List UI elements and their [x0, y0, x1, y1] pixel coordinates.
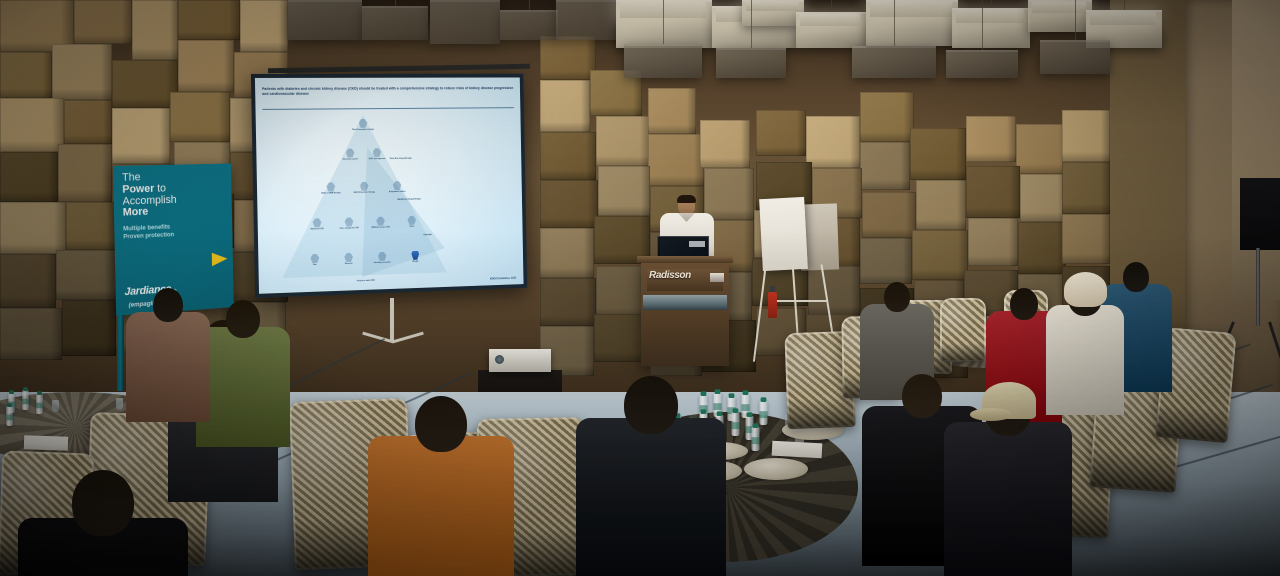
- wall-panel-box: [0, 202, 66, 254]
- pa-speaker-pole: [1256, 248, 1260, 326]
- wall-panel-box: [648, 88, 696, 134]
- bottle-label: [6, 415, 13, 421]
- ccb-icon: [345, 218, 354, 227]
- wall-panel-box: [540, 180, 598, 228]
- pyramid-cell-label: GLP1 management: [369, 158, 386, 161]
- bottle-cap: [9, 390, 14, 394]
- bottle-cap: [729, 393, 735, 398]
- pyramid-cell: MRA finerenone T2D: [365, 216, 397, 229]
- wall-panel-box: [806, 116, 860, 168]
- ceiling-light-fixture: [1040, 40, 1110, 74]
- wall-panel-box: [700, 120, 750, 168]
- wall-panel-box: [912, 230, 968, 280]
- audience-member: [196, 300, 290, 458]
- audience-member-head: [415, 396, 467, 452]
- bottle-cap: [37, 391, 42, 395]
- notepad-sheet: [24, 435, 68, 451]
- audience-member: [18, 470, 188, 576]
- wall-panel-box: [966, 166, 1020, 218]
- pyramid-cell-label: Metformin T2D: [311, 228, 324, 231]
- weight-icon: [411, 251, 420, 260]
- bottle-label: [741, 404, 749, 411]
- pyramid-cell-label: Renal transplant workup: [352, 129, 374, 132]
- conference-photo: Patients with diabetes and chronic kidne…: [0, 0, 1280, 576]
- other-icon: [407, 216, 416, 225]
- wall-panel-box: [540, 36, 596, 80]
- ceiling-light-rod: [663, 0, 664, 44]
- banquet-chair: [940, 298, 986, 362]
- pyramid-cell: SGLT2i first-line therapy: [347, 182, 380, 195]
- syringe-icon: [346, 149, 355, 158]
- diet-icon: [310, 254, 319, 263]
- ceiling-light-fixture: [852, 46, 936, 78]
- podium-lower-strip: [643, 295, 727, 310]
- wall-panel-box: [1062, 162, 1110, 214]
- ceiling-light-fixture: [430, 0, 500, 44]
- water-bottle: [36, 394, 43, 414]
- pyramid-cell: Glycemia control: [337, 148, 364, 161]
- screen-frame: Patients with diabetes and chronic kidne…: [251, 74, 527, 298]
- bottle-cap: [743, 390, 749, 395]
- baseball-cap: [982, 382, 1036, 419]
- ceiling-light-rod: [1124, 0, 1125, 10]
- ceiling-light-rod: [1075, 0, 1076, 40]
- wall-panel-box: [1018, 222, 1066, 274]
- pyramid-cell: Exercise: [332, 253, 366, 266]
- notepad-sheet: [772, 441, 823, 459]
- water-bottle: [6, 406, 13, 426]
- wall-panel-box: [178, 0, 240, 40]
- wall-panel-box: [648, 134, 704, 186]
- banner-headline: The Power to Accomplish More: [122, 170, 224, 219]
- screen-surface: Patients with diabetes and chronic kidne…: [255, 77, 524, 293]
- wall-panel-box: [0, 152, 58, 202]
- audience-member-torso: [944, 422, 1072, 576]
- pyramid-layer-second: Glycemia controlGLP1 management: [280, 147, 445, 162]
- bottle-cap: [733, 408, 739, 413]
- sglt2-icon: [360, 182, 369, 191]
- wall-panel-box: [58, 144, 112, 202]
- audience-member: [944, 386, 1072, 576]
- drinking-glass: [116, 398, 123, 410]
- ceiling-light-fixture: [946, 50, 1018, 78]
- podium-logo-mark: [710, 273, 724, 282]
- mra-icon: [376, 217, 385, 226]
- wall-panel-box: [540, 132, 596, 180]
- water-bottle: [22, 390, 29, 410]
- wall-panel-box: [860, 238, 912, 284]
- ceiling-light-rod: [529, 0, 530, 10]
- metformin-icon: [313, 218, 322, 227]
- wall-panel-box: [598, 166, 650, 216]
- serving-plate: [744, 458, 808, 480]
- bottle-label: [36, 403, 43, 409]
- banner-line-4-bold: More: [123, 206, 149, 219]
- pyramid-cell: Smoking cessation: [365, 252, 399, 265]
- pyramid-base-label: Patients with CKD: [283, 277, 448, 285]
- wall-panel-box: [966, 116, 1016, 162]
- pills-icon: [373, 148, 382, 157]
- wall-panel-box: [112, 60, 178, 108]
- wall-panel-box: [1016, 124, 1068, 174]
- ceiling-light-rod: [982, 0, 983, 50]
- wall-panel-box: [1020, 174, 1066, 222]
- wall-panel-box: [112, 108, 170, 164]
- pyramid-cell-label: Ca2+ antagonist CCB: [340, 227, 359, 230]
- bottle-cap: [7, 403, 12, 407]
- bottle-cap: [23, 387, 28, 391]
- audience-member-head: [884, 282, 910, 312]
- pyramid-cell-label: SGLT2i first-line therapy: [354, 191, 375, 194]
- pyramid-cell: Renal transplant workup: [348, 119, 377, 131]
- wall-panel-box: [64, 100, 112, 144]
- chair-sash: [1155, 404, 1230, 443]
- jardiance-arrow-icon: [212, 252, 228, 266]
- ceiling-light-glow: [800, 14, 860, 26]
- turban: [1064, 272, 1107, 307]
- pyramid-layer-apex: Renal transplant workup: [279, 118, 444, 132]
- laptop-badge: [689, 241, 705, 247]
- audience-member: [576, 376, 726, 576]
- kidney-icon: [359, 119, 368, 128]
- wall-panel-box: [540, 278, 596, 326]
- wall-panel-box: [1062, 110, 1110, 162]
- bottle-label: [751, 437, 759, 444]
- ace-icon: [326, 182, 335, 191]
- wall-panel-box: [0, 52, 52, 98]
- ceiling-light-fixture: [624, 44, 702, 78]
- wall-panel-box: [808, 266, 860, 316]
- audience-member-head: [902, 374, 942, 418]
- audience-member-torso: [368, 436, 514, 576]
- chair-sash: [940, 343, 986, 362]
- wall-panel-box: [860, 92, 914, 142]
- ceiling-light-rod: [831, 0, 832, 12]
- ceiling-light-rod: [395, 0, 396, 6]
- audience-member-head: [624, 376, 678, 434]
- wall-panel-box: [916, 180, 966, 230]
- ceiling-light-glow: [1032, 2, 1086, 13]
- banner-line-4: More: [123, 204, 224, 219]
- ceiling-light-glow: [956, 10, 1024, 23]
- bottle-label: [731, 422, 739, 429]
- ceiling-light-glow: [746, 2, 798, 11]
- ceiling-light-rod: [751, 0, 752, 48]
- ceiling-light-glow: [1090, 12, 1156, 25]
- pyramid-cell-label: ACE-I or ARB therapy: [321, 192, 340, 195]
- ceiling-light-fixture: [362, 6, 428, 40]
- pyramid-cell: Other: [396, 216, 427, 229]
- wall-panel-box: [540, 228, 594, 278]
- flipchart-board: [759, 197, 808, 271]
- slide-title: Patients with diabetes and chronic kidne…: [262, 86, 514, 97]
- podium-top-ledge: [637, 256, 733, 263]
- wall-panel-box: [74, 0, 132, 44]
- wall-panel-box: [178, 40, 234, 92]
- wall-panel-box: [968, 218, 1018, 266]
- wall-panel-box: [170, 92, 230, 142]
- pyramid-cell-label: Antiplatelet Statins: [389, 191, 406, 194]
- pyramid-cell: Antiplatelet Statins: [381, 181, 414, 194]
- audience-member: [126, 288, 210, 432]
- pyramid-cell-label: Glycemia control: [343, 158, 358, 161]
- presenter-hair: [677, 195, 696, 203]
- wall-panel-box: [62, 300, 116, 356]
- wall-panel-box: [52, 44, 112, 100]
- pyramid-cell: ACE-I or ARB therapy: [314, 182, 348, 195]
- banner-subline: Multiple benefits Proven protection: [123, 221, 224, 242]
- ceiling-light-fixture: [500, 10, 558, 40]
- no-smoking-icon: [378, 252, 387, 261]
- ceiling-light-fixture: [716, 48, 786, 78]
- pyramid-cell-label: Other: [409, 226, 414, 228]
- ceiling-light-glow: [870, 2, 952, 17]
- wall-panel-box: [66, 202, 116, 250]
- fire-extinguisher: [768, 292, 777, 318]
- pyramid-cell: Metformin T2D: [301, 218, 333, 231]
- chair-sash: [1089, 447, 1178, 493]
- projector: [489, 349, 551, 372]
- pa-speaker-box: [1240, 178, 1280, 250]
- wall-panel-box: [756, 110, 806, 156]
- ceiling-light-fixture: [288, 0, 362, 40]
- water-bottle: [731, 412, 739, 436]
- slide-divider: [262, 107, 514, 110]
- pyramid-side-label-1: First-line drug therapy: [385, 158, 417, 161]
- pyramid-cell: Weight: [399, 251, 432, 264]
- drinking-glass: [52, 400, 59, 412]
- wall-panel-box: [596, 116, 650, 166]
- exercise-icon: [344, 253, 353, 262]
- projection-screen: Patients with diabetes and chronic kidne…: [251, 74, 527, 298]
- pyramid-cell: Ca2+ antagonist CCB: [333, 217, 365, 230]
- chair-sash: [787, 398, 856, 429]
- wall-panel-box: [860, 142, 910, 190]
- ckd-pyramid-diagram: Renal transplant workupGlycemia controlG…: [279, 114, 447, 278]
- audience-member: [368, 396, 514, 576]
- audience-member-head: [1010, 288, 1038, 320]
- banner-line-2-rest: to: [154, 182, 166, 194]
- wall-panel-box: [540, 80, 590, 132]
- wall-panel-box: [862, 192, 916, 238]
- slide-citation: KDIGO Guidelines, 2022: [490, 277, 516, 281]
- audience-member-torso: [576, 418, 726, 576]
- wall-panel-box: [56, 250, 116, 300]
- wall-panel-box: [910, 128, 966, 180]
- statin-icon: [393, 181, 402, 190]
- audience-member-head: [153, 288, 183, 322]
- bottle-cap: [761, 397, 767, 402]
- wall-panel-box: [0, 98, 64, 152]
- audience-member-head: [226, 300, 260, 338]
- banner-stand: [117, 315, 124, 391]
- audience-member-torso: [126, 312, 210, 422]
- podium-brand-label: Radisson: [649, 270, 709, 281]
- bottle-label: [759, 411, 767, 418]
- pyramid-cell-label: Diet: [313, 264, 317, 266]
- pyramid-cell-label: MRA finerenone T2D: [372, 226, 390, 229]
- cap-brim: [970, 408, 1012, 421]
- wall-panel-box: [1062, 214, 1110, 264]
- projector-lens-icon: [495, 355, 504, 364]
- bottle-cap: [747, 412, 753, 417]
- ceiling-light-rod: [991, 0, 992, 8]
- bottle-label: [22, 399, 29, 405]
- audience-member-torso: [196, 327, 290, 447]
- wall-panel-box: [240, 0, 288, 52]
- water-bottle: [759, 401, 767, 425]
- screen-stand-pole: [390, 298, 394, 342]
- wall-panel-box: [0, 254, 56, 308]
- pyramid-cell-label: Weight: [412, 261, 418, 264]
- flipchart-crossbar: [772, 300, 828, 302]
- water-bottle: [751, 427, 759, 451]
- audience-member-head: [1123, 262, 1149, 292]
- pyramid-cell: Diet: [298, 254, 332, 267]
- podium: Radisson: [641, 261, 729, 366]
- wall-panel-box: [0, 308, 62, 360]
- wall-panel-box: [132, 0, 178, 60]
- audience-member-head: [72, 470, 134, 536]
- ceiling-light-rod: [894, 0, 895, 46]
- pyramid-cell-label: Exercise: [345, 263, 353, 266]
- banner-line-2-bold: Power: [122, 183, 154, 196]
- bottle-cap: [753, 423, 759, 428]
